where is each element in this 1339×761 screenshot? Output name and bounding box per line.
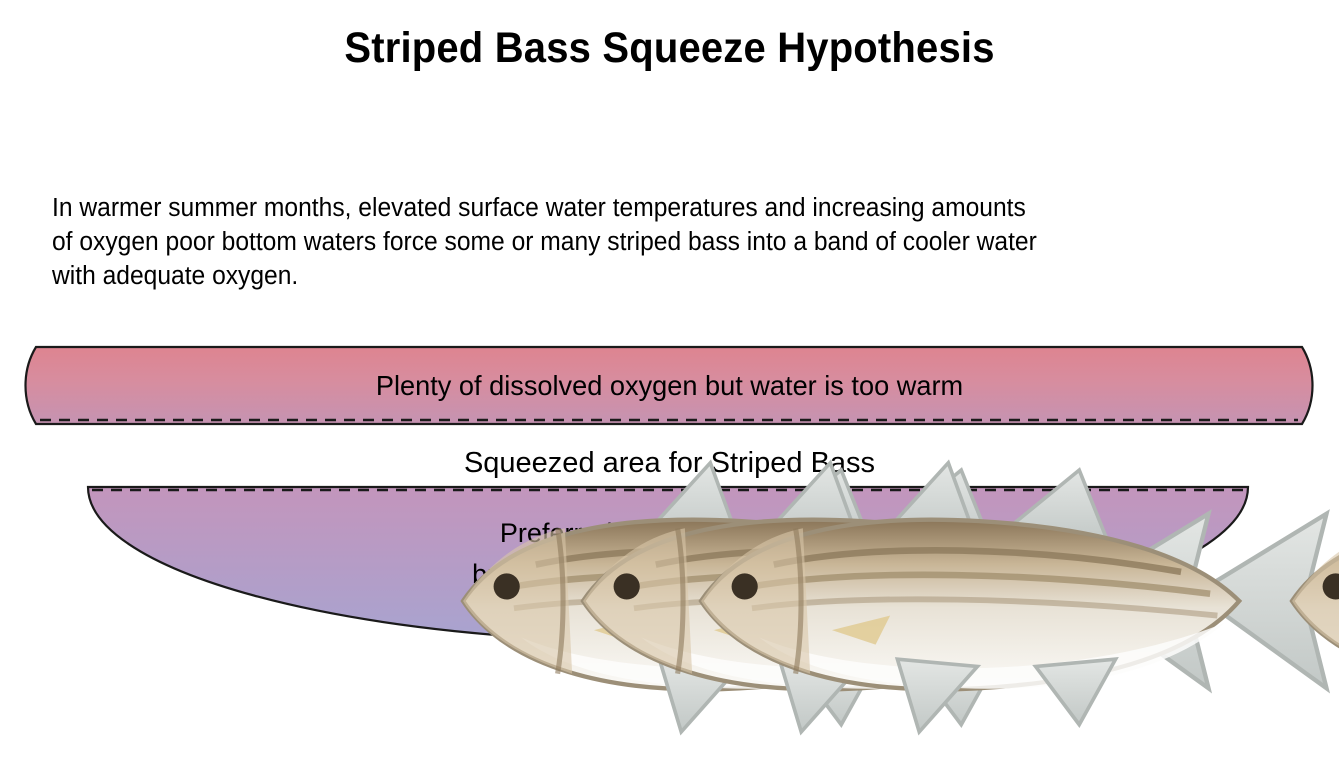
- intro-line-2: of oxygen poor bottom waters force some …: [52, 225, 1253, 259]
- striped-bass-icon: [1160, 441, 1256, 485]
- intro-line-1: In warmer summer months, elevated surfac…: [52, 191, 1253, 225]
- page-title: Striped Bass Squeeze Hypothesis: [47, 22, 1292, 74]
- striped-bass-icon: [99, 441, 195, 485]
- striped-bass-icon: [337, 441, 433, 485]
- warm-layer-shape: [26, 347, 1313, 424]
- striped-bass-icon: [219, 441, 315, 485]
- striped-bass-icon: [1050, 441, 1146, 485]
- striped-bass-squeeze-diagram: Plenty of dissolved oxygen but water is …: [0, 335, 1339, 655]
- striped-bass-icon: [928, 441, 1024, 485]
- intro-paragraph: In warmer summer months, elevated surfac…: [52, 191, 1253, 293]
- intro-line-3: with adequate oxygen.: [52, 259, 1253, 293]
